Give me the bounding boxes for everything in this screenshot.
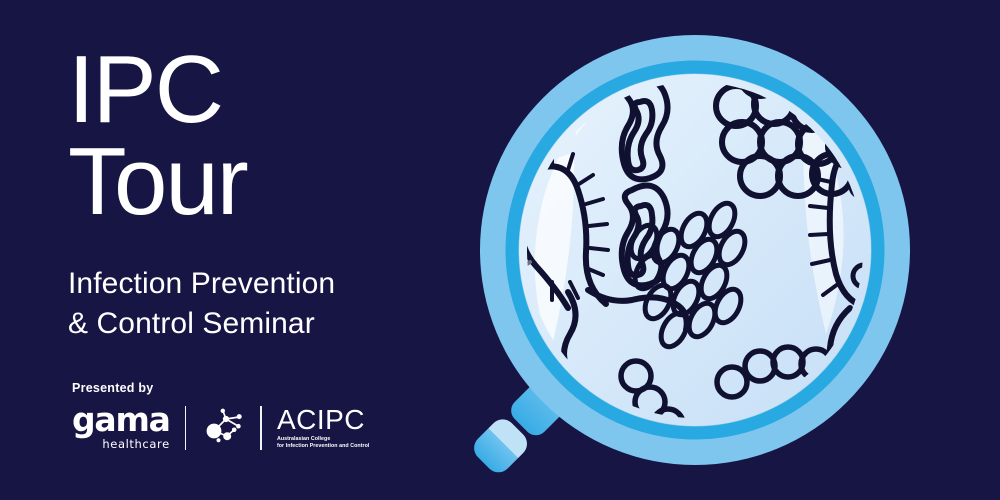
acipc-tagline: Australasian College for Infection Preve… [277, 436, 369, 450]
logo-divider-1 [185, 406, 187, 450]
logo-divider-2 [260, 406, 262, 450]
page-title: IPC Tour [68, 44, 488, 228]
presenter-block: Presented by gama healthcare [72, 381, 369, 452]
presented-by-label: Presented by [72, 381, 369, 395]
ipc-tour-banner: IPC Tour Infection Prevention & Control … [0, 0, 1000, 500]
acipc-network-icon [201, 406, 247, 451]
gama-tagline: healthcare [102, 437, 169, 451]
gama-wordmark: gama [72, 405, 170, 435]
magnifying-glass-with-microbes [460, 0, 1000, 500]
gama-healthcare-logo: gama healthcare [72, 405, 170, 450]
acipc-wordmark: ACIPC [277, 406, 369, 434]
logo-row: gama healthcare [72, 404, 369, 452]
acipc-text-block: ACIPC Australasian College for Infection… [277, 406, 369, 450]
page-subtitle: Infection Prevention & Control Seminar [68, 264, 488, 343]
acipc-logo: ACIPC Australasian College for Infection… [277, 406, 369, 450]
